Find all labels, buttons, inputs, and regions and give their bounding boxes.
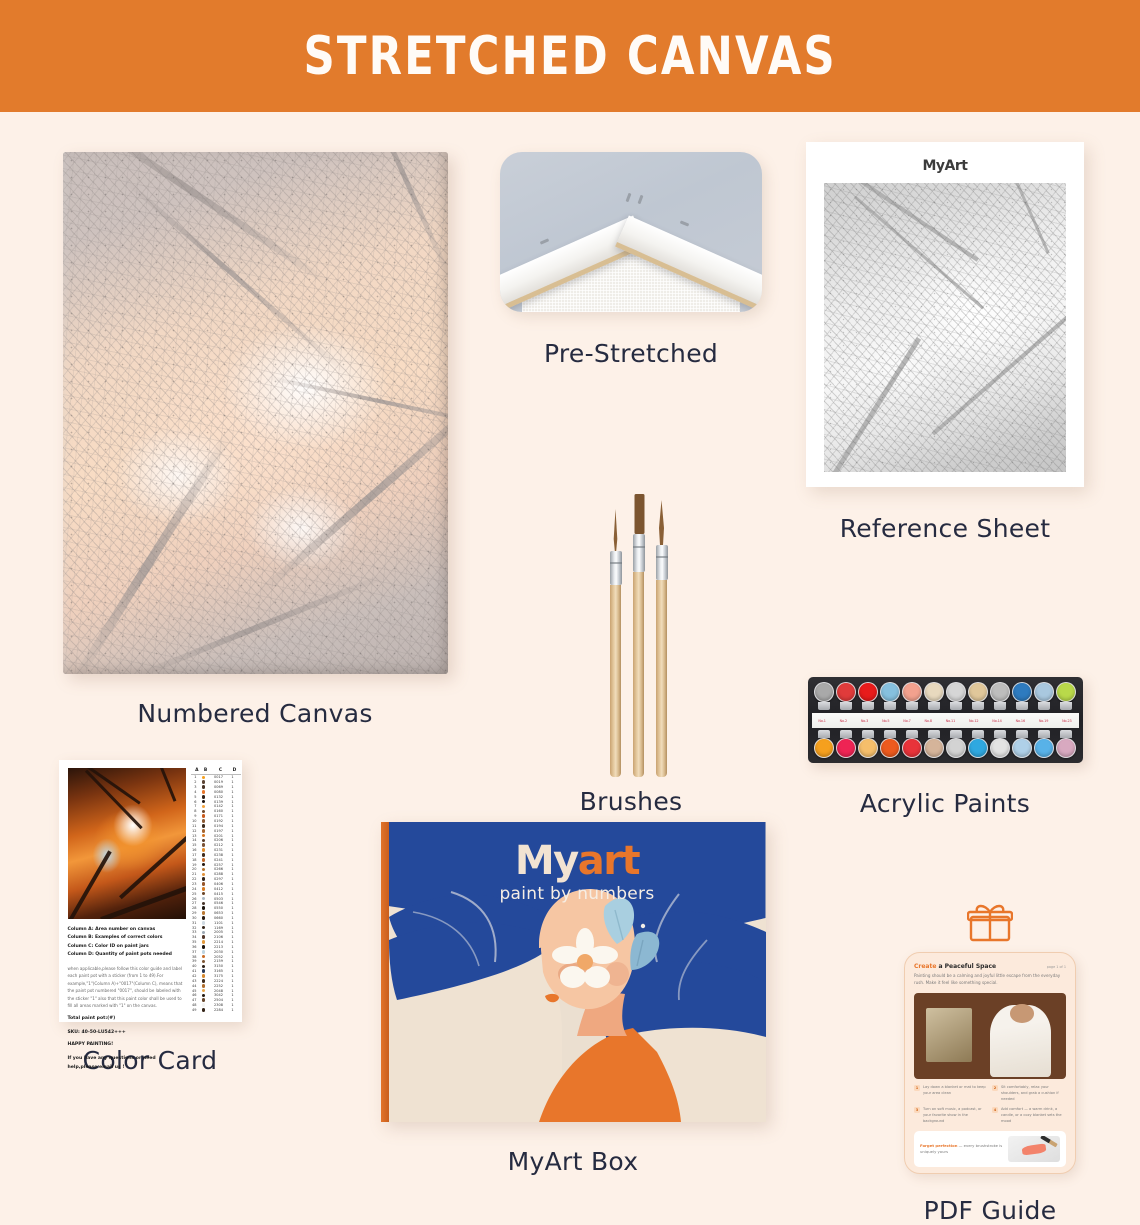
staple xyxy=(680,220,689,226)
cell-area-number: 29 xyxy=(191,911,199,915)
paint-label: No.5 xyxy=(882,719,889,723)
cell-area-number: 42 xyxy=(191,974,199,978)
pdf-tip-item: 1Lay down a blanket or mat to keep your … xyxy=(914,1085,987,1103)
paint-pot xyxy=(968,730,988,758)
paint-pot-lid xyxy=(946,738,966,758)
brush-stroke-shape xyxy=(1021,1144,1046,1156)
cell-color-swatch xyxy=(199,877,209,881)
cell-color-swatch xyxy=(199,785,209,789)
cell-quantity: 1 xyxy=(229,993,237,997)
paint-pot-tab xyxy=(994,730,1006,738)
cell-area-number: 2 xyxy=(191,780,199,784)
paint-pot xyxy=(990,730,1010,758)
caption-numbered-canvas: Numbered Canvas xyxy=(55,699,455,728)
cell-area-number: 41 xyxy=(191,969,199,973)
paint-pot-tab xyxy=(994,702,1006,710)
paint-pot-tab xyxy=(906,730,918,738)
myart-box-image: Myart paint by numbers xyxy=(381,822,766,1122)
cell-color-swatch xyxy=(199,945,209,949)
cell-color-id: 0238 xyxy=(209,853,229,857)
cell-quantity: 1 xyxy=(229,901,237,905)
color-card-table: A B C D 10017120019130069140080150132160… xyxy=(191,768,241,1015)
myart-logo-reference: MyArt xyxy=(824,158,1066,174)
cell-color-swatch xyxy=(199,960,209,964)
cell-color-swatch xyxy=(199,911,209,915)
paint-pot-lid xyxy=(902,738,922,758)
cell-color-id: 0297 xyxy=(209,877,229,881)
paint-pot-lid xyxy=(968,738,988,758)
cell-area-number: 39 xyxy=(191,959,199,963)
paint-pot-lid xyxy=(1034,738,1054,758)
pdf-tip-number: 4 xyxy=(992,1107,998,1113)
cell-color-swatch xyxy=(199,926,209,930)
paint-pot xyxy=(836,730,856,758)
paint-label: No.2 xyxy=(840,719,847,723)
cell-color-swatch xyxy=(199,800,209,804)
pre-stretched-photo xyxy=(500,152,762,312)
paint-pot-lid xyxy=(924,682,944,702)
brush-flat xyxy=(633,497,644,777)
paint-pot-tab xyxy=(862,702,874,710)
cell-area-number: 31 xyxy=(191,921,199,925)
cell-quantity: 1 xyxy=(229,906,237,910)
cell-area-number: 1 xyxy=(191,775,199,779)
pdf-photo xyxy=(914,993,1066,1079)
pdf-heading-rest: a Peaceful Space xyxy=(936,963,996,970)
col-header-b: B xyxy=(201,768,211,773)
paint-pot xyxy=(968,682,988,710)
paint-pot xyxy=(814,730,834,758)
cell-color-swatch xyxy=(199,882,209,886)
cell-color-swatch xyxy=(199,965,209,969)
pdf-tip-number: 1 xyxy=(914,1085,920,1091)
caption-pre-stretched: Pre-Stretched xyxy=(492,339,770,368)
cell-area-number: 13 xyxy=(191,834,199,838)
cell-color-id: 0132 xyxy=(209,795,229,799)
cell-color-swatch xyxy=(199,780,209,784)
cell-quantity: 1 xyxy=(229,795,237,799)
cell-color-id: 3042 xyxy=(209,993,229,997)
cell-area-number: 22 xyxy=(191,877,199,881)
cell-quantity: 1 xyxy=(229,809,237,813)
cell-area-number: 3 xyxy=(191,785,199,789)
cell-area-number: 37 xyxy=(191,950,199,954)
cell-quantity: 1 xyxy=(229,804,237,808)
cell-quantity: 1 xyxy=(229,785,237,789)
cell-quantity: 1 xyxy=(229,843,237,847)
cell-quantity: 1 xyxy=(229,1008,237,1012)
paint-pot-lid xyxy=(1056,738,1076,758)
cell-area-number: 34 xyxy=(191,935,199,939)
cell-quantity: 1 xyxy=(229,945,237,949)
paint-pot-lid xyxy=(968,682,988,702)
product-myart-box: Myart paint by numbers MyArt Box xyxy=(378,822,768,1176)
paint-pot-tab xyxy=(1038,702,1050,710)
paint-label: No.14 xyxy=(992,719,1001,723)
col-header-d: D xyxy=(231,768,239,773)
paint-pot-tab xyxy=(950,730,962,738)
paint-pot-tab xyxy=(1016,702,1028,710)
pdf-tip-text: Sit comfortably, relax your shoulders, a… xyxy=(1001,1085,1065,1103)
cell-quantity: 1 xyxy=(229,897,237,901)
cell-quantity: 1 xyxy=(229,867,237,871)
paint-pot xyxy=(902,682,922,710)
pdf-quote-card: Forget perfection — every brushstroke is… xyxy=(914,1131,1066,1167)
cell-quantity: 1 xyxy=(229,911,237,915)
color-card-happy: HAPPY PAINTING! xyxy=(68,1041,186,1050)
cell-quantity: 1 xyxy=(229,863,237,867)
product-brushes: Brushes xyxy=(492,487,770,816)
cell-quantity: 1 xyxy=(229,950,237,954)
cell-quantity: 1 xyxy=(229,984,237,988)
paint-pot-lid xyxy=(814,738,834,758)
cell-area-number: 48 xyxy=(191,1003,199,1007)
paint-pot xyxy=(1034,682,1054,710)
cell-area-number: 45 xyxy=(191,989,199,993)
pdf-tip-text: Add comfort — a warm drink, a candle, or… xyxy=(1001,1107,1065,1125)
cell-color-id: 0660 xyxy=(209,916,229,920)
paint-pot-tab xyxy=(818,730,830,738)
pdf-tip-number: 2 xyxy=(992,1085,998,1091)
cell-color-swatch xyxy=(199,824,209,828)
cell-color-swatch xyxy=(199,834,209,838)
paint-pot xyxy=(880,730,900,758)
cell-quantity: 1 xyxy=(229,998,237,1002)
cell-color-id: 0503 xyxy=(209,897,229,901)
cell-quantity: 1 xyxy=(229,775,237,779)
cell-color-swatch xyxy=(199,829,209,833)
box-spine xyxy=(381,822,389,1122)
paint-pot xyxy=(814,682,834,710)
paint-pot-lid xyxy=(880,738,900,758)
cell-color-id: 2308 xyxy=(209,1003,229,1007)
brush-round xyxy=(656,510,667,777)
cell-color-swatch xyxy=(199,863,209,867)
pdf-quote-accent: Forget perfection xyxy=(920,1143,957,1148)
paint-pot-tab xyxy=(972,702,984,710)
paint-pot-tab xyxy=(884,730,896,738)
box-subtitle: paint by numbers xyxy=(389,884,766,904)
cell-color-swatch xyxy=(199,887,209,891)
cell-color-swatch xyxy=(199,998,209,1002)
cell-color-swatch xyxy=(199,1008,209,1012)
paint-pot-lid xyxy=(836,738,856,758)
cell-color-id: 0194 xyxy=(209,824,229,828)
color-card-contact: If you have any questions or need help,p… xyxy=(68,1055,186,1073)
paint-pot-lid xyxy=(946,682,966,702)
cell-color-swatch xyxy=(199,805,209,809)
cell-area-number: 28 xyxy=(191,906,199,910)
cell-quantity: 1 xyxy=(229,790,237,794)
cell-color-id: 2504 xyxy=(209,998,229,1002)
cell-color-swatch xyxy=(199,994,209,998)
cell-color-swatch xyxy=(199,790,209,794)
product-numbered-canvas: Numbered Canvas xyxy=(55,152,455,728)
cell-quantity: 1 xyxy=(229,964,237,968)
paint-label: No.19 xyxy=(1039,719,1048,723)
caption-reference-sheet: Reference Sheet xyxy=(800,514,1090,543)
cell-color-swatch xyxy=(199,979,209,983)
pdf-intro-text: Painting should be a calming and joyful … xyxy=(914,973,1066,987)
cell-color-id: 0546 xyxy=(209,901,229,905)
cell-color-id: 0160 xyxy=(209,809,229,813)
paint-pot xyxy=(990,682,1010,710)
caption-acrylic-paints: Acrylic Paints xyxy=(800,789,1090,818)
cell-quantity: 1 xyxy=(229,872,237,876)
cell-area-number: 19 xyxy=(191,863,199,867)
pdf-heading-accent: Create xyxy=(914,963,936,970)
paint-label: No.8 xyxy=(925,719,932,723)
cell-quantity: 1 xyxy=(229,892,237,896)
reference-sheet-artwork xyxy=(824,183,1066,472)
color-card-table-header: A B C D xyxy=(191,768,241,775)
cell-area-number: 5 xyxy=(191,795,199,799)
cell-area-number: 20 xyxy=(191,867,199,871)
paint-pot-lid xyxy=(990,738,1010,758)
color-card-total: Total paint pot:(#) xyxy=(68,1015,186,1024)
cell-area-number: 10 xyxy=(191,819,199,823)
paint-pot-tab xyxy=(950,702,962,710)
cell-color-id: 2213 xyxy=(209,945,229,949)
paint-pot xyxy=(924,682,944,710)
pdf-tips-list: 1Lay down a blanket or mat to keep your … xyxy=(914,1085,1066,1125)
cell-area-number: 11 xyxy=(191,824,199,828)
cell-color-id: 3150 xyxy=(209,964,229,968)
cell-color-swatch xyxy=(199,848,209,852)
cell-color-swatch xyxy=(199,776,209,780)
cell-color-id: 2030 xyxy=(209,950,229,954)
cell-color-id: 2048 xyxy=(209,989,229,993)
cell-color-swatch xyxy=(199,819,209,823)
legend-line-b: Column B: Examples of correct colors xyxy=(68,934,186,942)
cell-color-swatch xyxy=(199,935,209,939)
cell-color-swatch xyxy=(199,810,209,814)
paint-label: No.11 xyxy=(946,719,955,723)
cell-quantity: 1 xyxy=(229,926,237,930)
cell-color-id: 2052 xyxy=(209,955,229,959)
pdf-photo-head xyxy=(1010,1004,1034,1023)
cell-quantity: 1 xyxy=(229,814,237,818)
cell-quantity: 1 xyxy=(229,916,237,920)
cell-color-id: 0550 xyxy=(209,906,229,910)
paint-pot xyxy=(880,682,900,710)
paint-pot-tab xyxy=(906,702,918,710)
paint-pot-tab xyxy=(818,702,830,710)
cell-color-swatch xyxy=(199,814,209,818)
paint-pot-tab xyxy=(1060,702,1072,710)
paint-label: No.12 xyxy=(969,719,978,723)
cell-quantity: 1 xyxy=(229,858,237,862)
paint-pot-lid xyxy=(1034,682,1054,702)
pdf-tip-item: 2Sit comfortably, relax your shoulders, … xyxy=(992,1085,1065,1103)
cell-quantity: 1 xyxy=(229,780,237,784)
cell-quantity: 1 xyxy=(229,882,237,886)
cell-area-number: 16 xyxy=(191,848,199,852)
cell-quantity: 1 xyxy=(229,974,237,978)
cell-color-id: 0241 xyxy=(209,858,229,862)
cell-color-id: 0080 xyxy=(209,790,229,794)
caption-pdf-guide: PDF Guide xyxy=(895,1196,1085,1225)
cell-color-swatch xyxy=(199,931,209,935)
caption-brushes: Brushes xyxy=(492,787,770,816)
reference-number-dots xyxy=(824,183,1066,472)
cell-area-number: 17 xyxy=(191,853,199,857)
pdf-photo-easel xyxy=(926,1008,972,1061)
cell-color-swatch xyxy=(199,950,209,954)
cell-color-swatch xyxy=(199,984,209,988)
cell-color-swatch xyxy=(199,902,209,906)
cell-color-swatch xyxy=(199,843,209,847)
paint-pot-lid xyxy=(858,738,878,758)
cell-color-id: 0266 xyxy=(209,867,229,871)
paint-pot-row-bottom xyxy=(814,730,1077,758)
cell-color-id: 0412 xyxy=(209,887,229,891)
paint-pot-row-top xyxy=(814,682,1077,710)
cell-color-swatch xyxy=(199,858,209,862)
cell-area-number: 9 xyxy=(191,814,199,818)
cell-area-number: 4 xyxy=(191,790,199,794)
cell-color-id: 0206 xyxy=(209,838,229,842)
cell-color-swatch xyxy=(199,921,209,925)
paint-pot-lid xyxy=(858,682,878,702)
cell-area-number: 24 xyxy=(191,887,199,891)
product-contents-stage: Numbered Canvas Pre-Stretched MyArt xyxy=(0,112,1140,1140)
pdf-tip-item: 3Turn on soft music, a podcast, or your … xyxy=(914,1107,987,1125)
numbered-canvas-image xyxy=(63,152,448,674)
cell-color-swatch xyxy=(199,1003,209,1007)
color-card-left-column: Column A: Area number on canvas Column B… xyxy=(68,768,186,1015)
paint-pot xyxy=(1056,682,1076,710)
cell-area-number: 26 xyxy=(191,897,199,901)
cell-quantity: 1 xyxy=(229,834,237,838)
cell-quantity: 1 xyxy=(229,935,237,939)
cell-quantity: 1 xyxy=(229,989,237,993)
color-card-reference-photo xyxy=(68,768,186,919)
cell-quantity: 1 xyxy=(229,921,237,925)
cell-area-number: 36 xyxy=(191,945,199,949)
paint-label: No.1 xyxy=(818,719,825,723)
color-card-note: when applicable,please follow this color… xyxy=(68,965,186,1010)
paint-label: No.7 xyxy=(903,719,910,723)
cell-color-id: 0415 xyxy=(209,892,229,896)
cell-color-swatch xyxy=(199,955,209,959)
color-card-sku: SKU: 40-50-LU542+++ xyxy=(68,1029,186,1038)
cell-area-number: 6 xyxy=(191,800,199,804)
color-card-row: 4922841 xyxy=(191,1008,241,1013)
cell-color-id: 0192 xyxy=(209,819,229,823)
paint-pot-tab xyxy=(1060,730,1072,738)
legend-line-a: Column A: Area number on canvas xyxy=(68,926,186,934)
cell-color-id: 0197 xyxy=(209,829,229,833)
staple xyxy=(540,238,549,244)
product-color-card: Column A: Area number on canvas Column B… xyxy=(50,760,250,1075)
cell-color-swatch xyxy=(199,795,209,799)
cell-color-id: 0017 xyxy=(209,775,229,779)
logo-art-text: art xyxy=(578,838,639,884)
paint-pot xyxy=(1012,730,1032,758)
cell-color-id: 0069 xyxy=(209,785,229,789)
cell-quantity: 1 xyxy=(229,930,237,934)
cell-color-id: 0171 xyxy=(209,814,229,818)
staple xyxy=(638,195,644,204)
paint-label: No.16 xyxy=(1016,719,1025,723)
cell-color-id: 0653 xyxy=(209,911,229,915)
paint-tray-label-strip: No.1No.2No.3No.5No.7No.8No.11No.12No.14N… xyxy=(812,713,1079,728)
cell-color-swatch xyxy=(199,916,209,920)
cell-color-swatch xyxy=(199,906,209,910)
cell-area-number: 46 xyxy=(191,993,199,997)
cell-area-number: 15 xyxy=(191,843,199,847)
paint-pot xyxy=(946,730,966,758)
cell-quantity: 1 xyxy=(229,1003,237,1007)
paint-pot-lid xyxy=(902,682,922,702)
cell-area-number: 21 xyxy=(191,872,199,876)
pdf-tip-number: 3 xyxy=(914,1107,920,1113)
cell-quantity: 1 xyxy=(229,853,237,857)
cell-color-swatch xyxy=(199,853,209,857)
cell-color-id: 0201 xyxy=(209,834,229,838)
cell-area-number: 38 xyxy=(191,955,199,959)
cell-area-number: 7 xyxy=(191,804,199,808)
cell-color-swatch xyxy=(199,892,209,896)
paint-pot-tab xyxy=(928,730,940,738)
cell-quantity: 1 xyxy=(229,887,237,891)
paint-pot xyxy=(858,730,878,758)
caption-myart-box: MyArt Box xyxy=(378,1147,768,1176)
cell-area-number: 49 xyxy=(191,1008,199,1012)
cell-color-id: 0231 xyxy=(209,848,229,852)
cell-color-id: 3165 xyxy=(209,969,229,973)
cell-quantity: 1 xyxy=(229,877,237,881)
paint-pot xyxy=(1012,682,1032,710)
cell-color-id: 2284 xyxy=(209,1008,229,1012)
paint-pot-lid xyxy=(1056,682,1076,702)
cell-color-id: 1101 xyxy=(209,921,229,925)
pdf-quote-text: Forget perfection — every brushstroke is… xyxy=(920,1143,1003,1156)
legend-line-c: Column C: Color ID on paint jars xyxy=(68,943,186,951)
paint-pot xyxy=(1056,730,1076,758)
paint-pot-tab xyxy=(840,702,852,710)
paint-pot xyxy=(946,682,966,710)
paint-pot-lid xyxy=(814,682,834,702)
page-header: STRETCHED CANVAS xyxy=(0,0,1140,112)
cell-area-number: 47 xyxy=(191,998,199,1002)
paint-pot xyxy=(1034,730,1054,758)
cell-area-number: 8 xyxy=(191,809,199,813)
cell-color-id: 2005 xyxy=(209,930,229,934)
product-reference-sheet: MyArt Reference Sheet xyxy=(800,142,1090,543)
paint-pot-tab xyxy=(928,702,940,710)
cell-area-number: 40 xyxy=(191,964,199,968)
paint-pot-lid xyxy=(990,682,1010,702)
cell-color-swatch xyxy=(199,839,209,843)
cell-color-id: 3175 xyxy=(209,974,229,978)
cell-area-number: 25 xyxy=(191,892,199,896)
color-card-legend: Column A: Area number on canvas Column B… xyxy=(68,926,186,1073)
cell-quantity: 1 xyxy=(229,829,237,833)
cell-quantity: 1 xyxy=(229,940,237,944)
cell-color-swatch xyxy=(199,969,209,973)
color-card-table-body: 1001712001913006914008015013216013917014… xyxy=(191,775,241,1012)
legend-line-d: Column D: Quantity of paint pots needed xyxy=(68,951,186,959)
cell-area-number: 23 xyxy=(191,882,199,886)
paint-pot xyxy=(924,730,944,758)
paint-pot-lid xyxy=(880,682,900,702)
cell-color-swatch xyxy=(199,873,209,877)
cell-color-id: 0142 xyxy=(209,804,229,808)
paint-label: No.3 xyxy=(861,719,868,723)
page-title: STRETCHED CANVAS xyxy=(303,26,836,87)
